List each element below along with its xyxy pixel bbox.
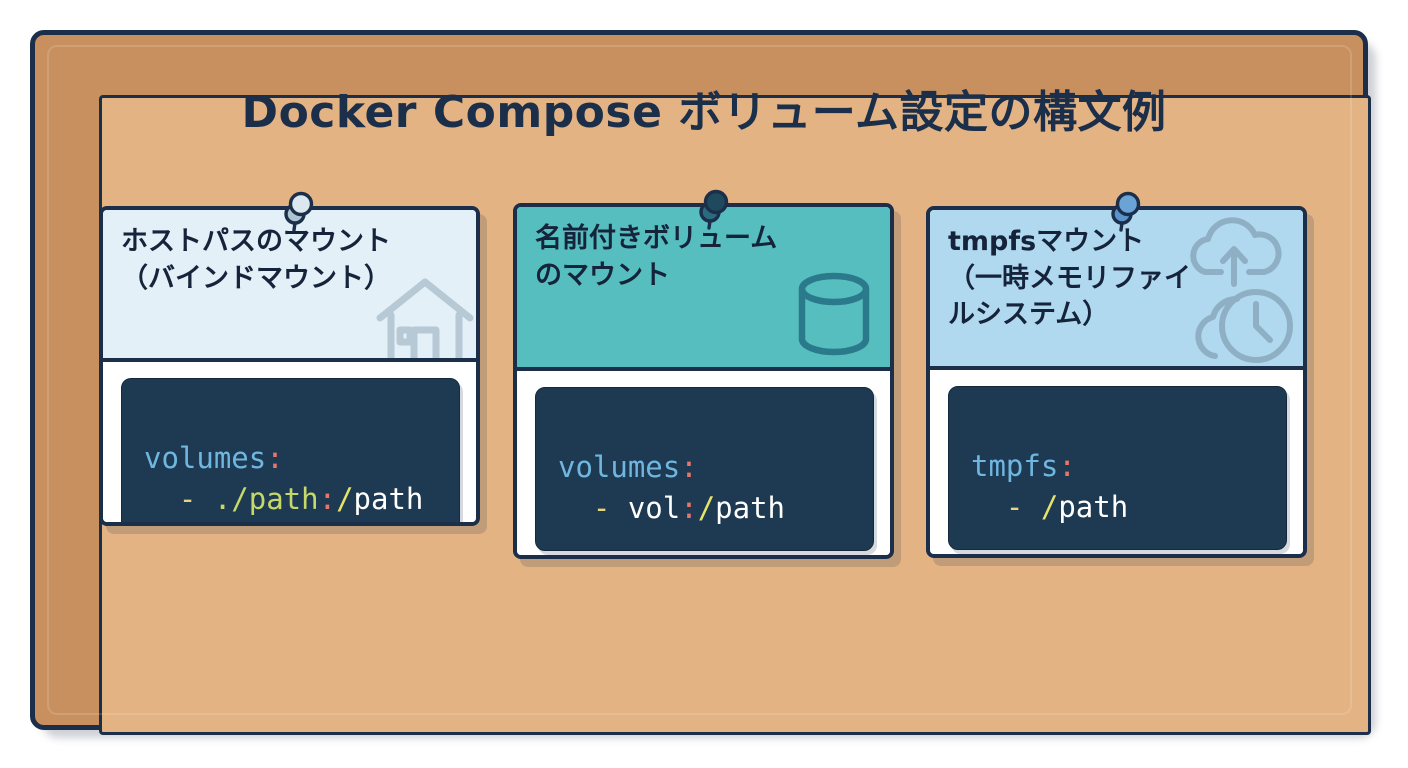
card-body: volumes: - ./path:/path: [103, 362, 476, 526]
code-token-slash: /: [1041, 490, 1058, 524]
card-title: 名前付きボリューム のマウント: [535, 221, 874, 294]
code-token-key: tmpfs: [971, 449, 1058, 483]
card-header: ホストパスのマウント （バインドマウント）: [103, 210, 476, 362]
code-block: tmpfs: - /path: [948, 386, 1287, 550]
code-token-target-path: path: [1058, 490, 1128, 524]
code-token-dash: -: [144, 482, 214, 516]
code-token-colon: :: [680, 491, 697, 525]
code-token-target-path: path: [354, 482, 424, 516]
code-token-slash: /: [336, 482, 353, 516]
page-title: Docker Compose ボリューム設定の構文例: [0, 88, 1408, 139]
infographic-canvas: Docker Compose ボリューム設定の構文例 ホストパスのマウント （バ…: [0, 0, 1408, 768]
pushpin-icon-card-3: [1108, 188, 1142, 232]
code-token-key: volumes: [558, 450, 680, 484]
code-block: volumes: - ./path:/path: [121, 378, 460, 526]
pushpin-icon-card-2: [696, 186, 730, 230]
code-token-target-path: path: [715, 491, 785, 525]
card-body: volumes: - vol:/path: [517, 371, 890, 559]
code-token-dash: -: [971, 490, 1041, 524]
card-tmpfs-mount[interactable]: tmpfsマウント （一時メモリファイ ルシステム） tmpfs: - /pat…: [926, 206, 1307, 558]
card-named-volume-mount[interactable]: 名前付きボリューム のマウント volumes: - vol:/path: [513, 203, 894, 559]
card-header: 名前付きボリューム のマウント: [517, 207, 890, 371]
card-title: tmpfsマウント （一時メモリファイ ルシステム）: [948, 224, 1287, 334]
code-token-volume-name: vol: [628, 491, 680, 525]
code-token-colon: :: [319, 482, 336, 516]
code-token-source-path: ./path: [214, 482, 319, 516]
code-block: volumes: - vol:/path: [535, 387, 874, 551]
code-token-dash: -: [558, 491, 628, 525]
card-body: tmpfs: - /path: [930, 370, 1303, 558]
pushpin-icon-card-1: [281, 188, 315, 232]
code-token-colon: :: [680, 450, 697, 484]
card-title: ホストパスのマウント （バインドマウント）: [121, 224, 460, 297]
card-header: tmpfsマウント （一時メモリファイ ルシステム）: [930, 210, 1303, 370]
card-host-path-bind-mount[interactable]: ホストパスのマウント （バインドマウント） volumes: - ./path:…: [99, 206, 480, 526]
code-token-colon: :: [266, 441, 283, 475]
code-token-key: volumes: [144, 441, 266, 475]
code-token-slash: /: [698, 491, 715, 525]
code-token-colon: :: [1058, 449, 1075, 483]
